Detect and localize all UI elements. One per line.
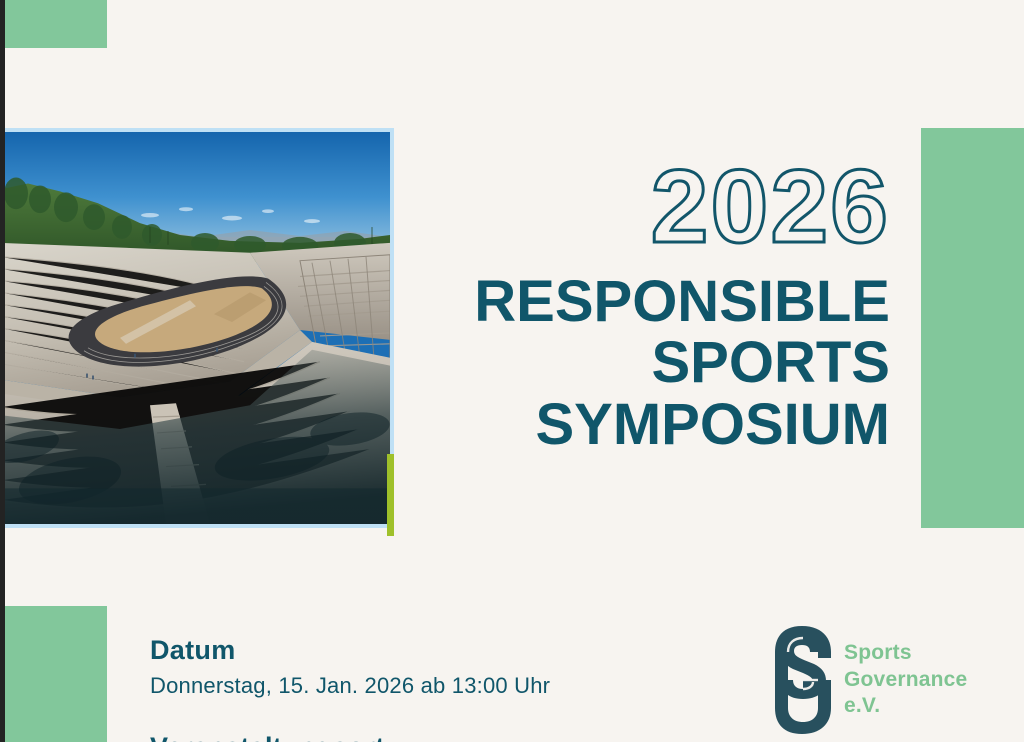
logo-wordmark: Sports Governance e.V. [844, 640, 967, 721]
event-details-block: Datum Donnerstag, 15. Jan. 2026 ab 13:00… [150, 634, 550, 742]
year-outline-text: 2026 [400, 155, 890, 259]
logo-line-2: Governance [844, 667, 967, 694]
venue-label: Veranstaltungsort [150, 731, 550, 742]
date-label: Datum [150, 634, 550, 666]
sg-monogram-icon [772, 624, 834, 736]
photo-olive-accent [387, 454, 394, 536]
headline-block: 2026 RESPONSIBLE SPORTS SYMPOSIUM [400, 155, 890, 455]
poster-canvas: 2026 RESPONSIBLE SPORTS SYMPOSIUM Datum … [0, 0, 1024, 742]
date-value: Donnerstag, 15. Jan. 2026 ab 13:00 Uhr [150, 671, 550, 701]
sports-governance-logo: Sports Governance e.V. [772, 624, 967, 736]
decorative-green-block-top-left [5, 0, 107, 48]
title-line-1: RESPONSIBLE [400, 271, 890, 332]
stadium-photo [0, 132, 390, 524]
logo-line-3: e.V. [844, 693, 967, 720]
title-line-2: SPORTS [400, 332, 890, 393]
stadium-photo-frame [0, 128, 394, 528]
title-line-3: SYMPOSIUM [400, 394, 890, 455]
left-edge-strip [0, 0, 5, 742]
logo-line-1: Sports [844, 640, 967, 667]
decorative-green-block-right [921, 128, 1024, 528]
decorative-green-block-bottom-left [5, 606, 107, 742]
